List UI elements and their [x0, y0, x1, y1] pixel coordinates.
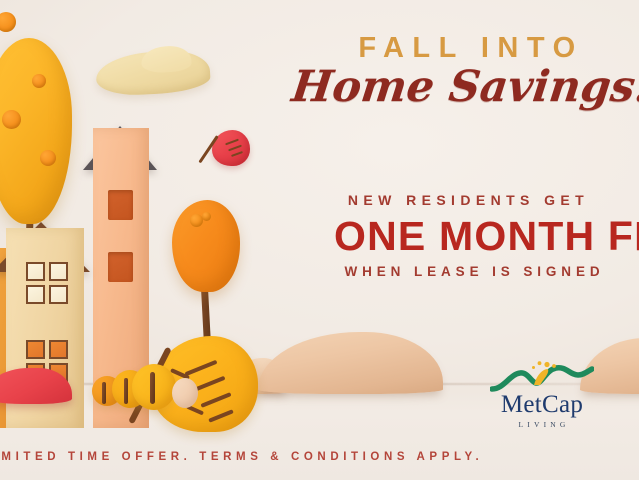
bush-trunk-3	[102, 382, 106, 404]
offer-headline: ONE MONTH FREE	[334, 214, 639, 260]
metcap-tagline: LIVING	[486, 420, 598, 429]
red-leaf-rib	[225, 139, 239, 146]
red-leaf-rib	[228, 145, 242, 152]
metcap-wordmark: MetCap	[486, 392, 598, 417]
sun-dot	[552, 364, 556, 368]
offer-subline: WHEN LEASE IS SIGNED	[302, 264, 639, 279]
window-pane	[26, 340, 45, 359]
red-leaf-rib	[231, 151, 243, 157]
window-pane	[26, 285, 45, 304]
tree-dot-1	[32, 74, 46, 88]
window-pane	[49, 340, 68, 359]
offer-block: NEW RESIDENTS GET ONE MONTH FREE WHEN LE…	[290, 192, 639, 279]
tree-dot-3	[40, 150, 56, 166]
headline-kicker: FALL INTO	[292, 34, 639, 63]
blob-tree-dot-small	[202, 212, 211, 221]
bush-pale	[172, 378, 198, 408]
cream-cloud	[95, 49, 211, 97]
window-pane	[49, 285, 68, 304]
red-leaf	[212, 130, 250, 166]
sun-dot	[538, 361, 542, 365]
orange-ball-topleft	[0, 12, 16, 32]
leaf-vein-rib	[184, 360, 217, 376]
offer-eyebrow: NEW RESIDENTS GET	[290, 192, 639, 208]
window-pane	[49, 262, 68, 281]
terms-and-conditions: LIMITED TIME OFFER. TERMS & CONDITIONS A…	[0, 451, 483, 463]
bush-trunk-2	[150, 372, 155, 404]
tall-yellow-tree	[0, 38, 72, 224]
peach-house-window-upper	[108, 190, 133, 220]
leaf-vein-rib	[200, 392, 231, 408]
metcap-hills-icon	[490, 358, 594, 394]
headline-block: FALL INTO Home Savings!	[292, 34, 639, 110]
leaf-vein-rib	[208, 409, 234, 422]
bush-trunk-1	[124, 378, 128, 404]
orange-blob-tree	[172, 200, 240, 292]
peach-house-window-lower	[108, 252, 133, 282]
red-leaf-vein	[198, 135, 218, 163]
metcap-logo: MetCap LIVING	[486, 358, 598, 429]
sun-dot	[532, 366, 535, 369]
headline-script: Home Savings!	[289, 65, 639, 110]
sun-dot	[544, 362, 549, 367]
promotional-banner: FALL INTO Home Savings! NEW RESIDENTS GE…	[0, 0, 639, 480]
tree-dot-2	[2, 110, 21, 129]
tan-hill-left	[258, 332, 443, 394]
window-pane	[26, 262, 45, 281]
cream-house-window-upper	[26, 262, 68, 304]
